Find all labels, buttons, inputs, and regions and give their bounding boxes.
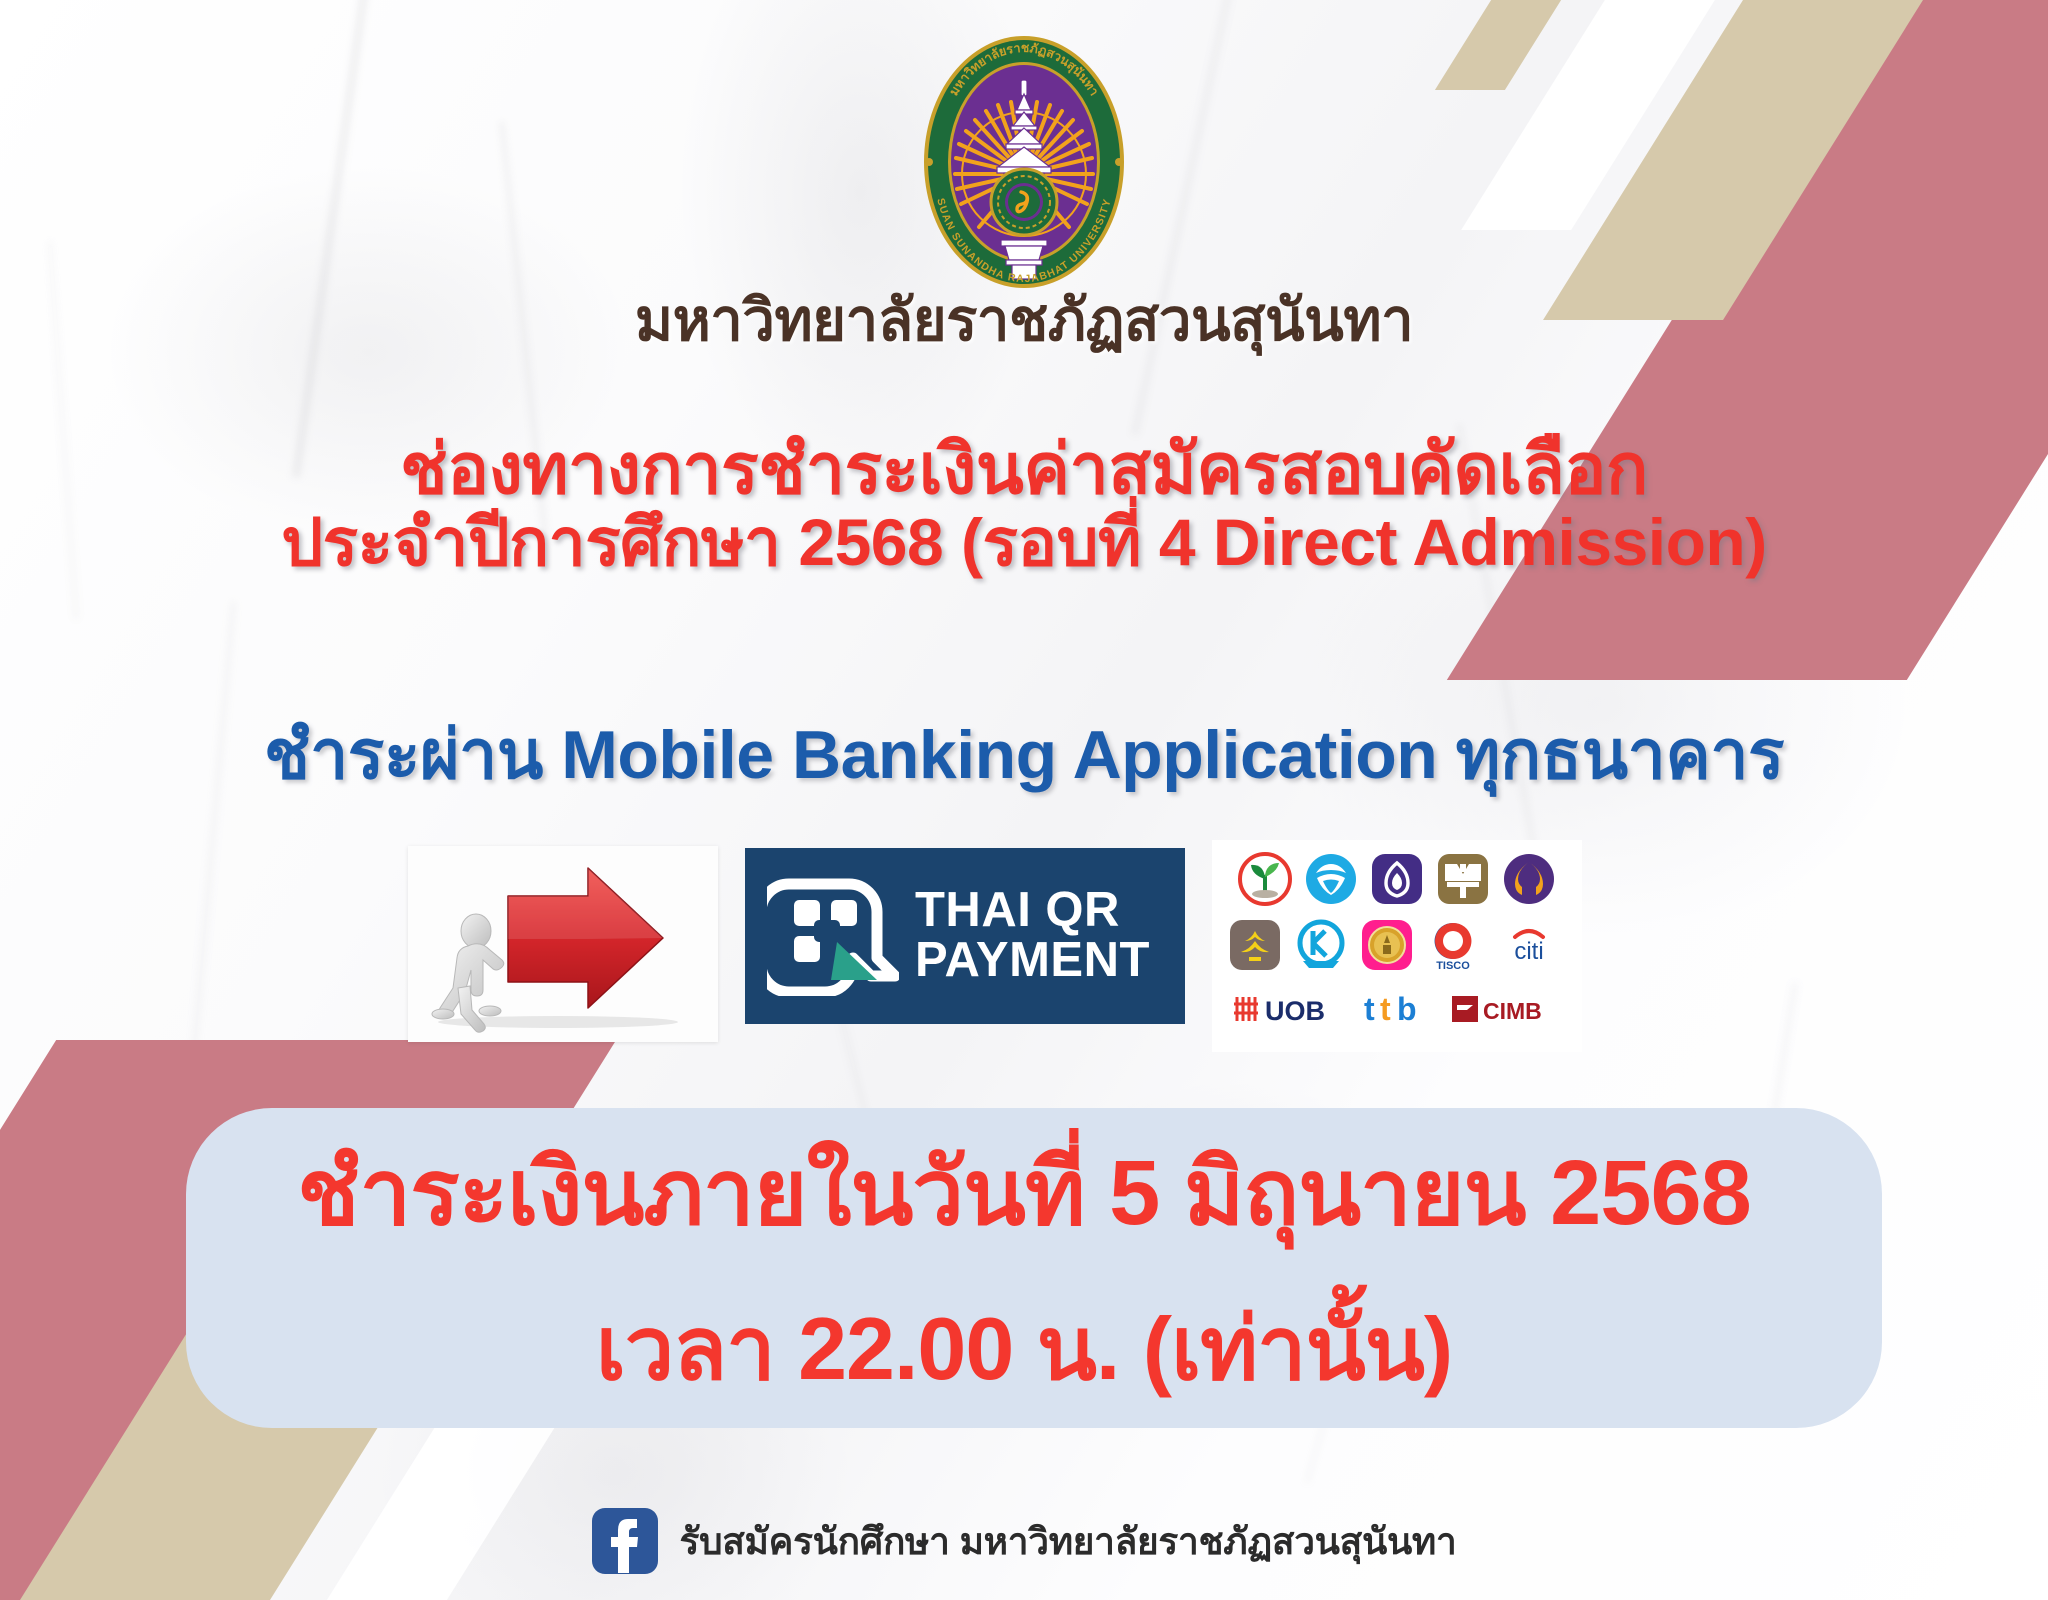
tisco-logo-icon: TISCO xyxy=(1425,917,1481,973)
uob-logo-icon: UOB xyxy=(1233,991,1349,1027)
bank-row-2: TISCO citi xyxy=(1216,912,1578,978)
thai-qr-payment-logo: THAI QR PAYMENT xyxy=(745,848,1185,1024)
bank-row-3: UOB t t b CIMB xyxy=(1216,978,1578,1040)
baac-logo-icon xyxy=(1237,851,1293,907)
poster-content: มหาวิทยาลัยราชภัฏสวนสุนันทา SUAN SUNANDH… xyxy=(0,0,2048,1600)
qr-line-1: THAI QR xyxy=(915,886,1150,936)
university-name: มหาวิทยาลัยราชภัฏสวนสุนันทา xyxy=(0,292,2048,350)
logos-row: THAI QR PAYMENT xyxy=(0,838,2048,1058)
svg-text:CIMB: CIMB xyxy=(1483,998,1542,1024)
headline-line-1: ช่องทางการชำระเงินค่าสมัครสอบคัดเลือก xyxy=(0,432,2048,506)
figure-pushing-red-arrow-image xyxy=(408,846,718,1042)
footer: รับสมัครนักศึกษา มหาวิทยาลัยราชภัฏสวนสุน… xyxy=(0,1508,2048,1574)
payment-channel-subline: ชำระผ่าน Mobile Banking Application ทุกธ… xyxy=(0,700,2048,808)
svg-text:UOB: UOB xyxy=(1265,996,1325,1026)
facebook-icon[interactable] xyxy=(592,1508,658,1574)
headline-line-2: ประจำปีการศึกษา 2568 (รอบที่ 4 Direct Ad… xyxy=(0,508,2048,578)
krungthai-bank-logo-icon xyxy=(1303,851,1359,907)
bangkok-bank-logo-icon xyxy=(1227,917,1283,973)
svg-text:t: t xyxy=(1364,991,1375,1027)
qr-line-2: PAYMENT xyxy=(915,936,1150,986)
citi-logo-icon: citi xyxy=(1491,917,1567,973)
svg-text:TISCO: TISCO xyxy=(1436,960,1470,972)
kasikornbank-k-logo-icon xyxy=(1293,917,1349,973)
deadline-line-2: เวลา 22.00 น. (เท่านั้น) xyxy=(0,1300,2048,1399)
thai-qr-payment-wordmark: THAI QR PAYMENT xyxy=(915,886,1150,986)
headline: ช่องทางการชำระเงินค่าสมัครสอบคัดเลือก ปร… xyxy=(0,432,2048,578)
cimb-logo-icon: CIMB xyxy=(1451,991,1561,1027)
krungsri-logo-icon xyxy=(1359,917,1415,973)
poster-canvas: มหาวิทยาลัยราชภัฏสวนสุนันทา SUAN SUNANDH… xyxy=(0,0,2048,1600)
thai-qr-mark-icon xyxy=(767,876,899,996)
university-crest: มหาวิทยาลัยราชภัฏสวนสุนันทา SUAN SUNANDH… xyxy=(909,24,1139,294)
ttb-logo-icon: t t b xyxy=(1363,991,1437,1027)
scb-logo-icon xyxy=(1369,851,1425,907)
bank-row-1 xyxy=(1216,846,1578,912)
svg-text:t: t xyxy=(1380,991,1391,1027)
kasikorn-seedling-logo-icon xyxy=(1501,851,1557,907)
svg-text:b: b xyxy=(1397,991,1417,1027)
government-savings-bank-logo-icon xyxy=(1435,851,1491,907)
facebook-page-name: รับสมัครนักศึกษา มหาวิทยาลัยราชภัฏสวนสุน… xyxy=(680,1512,1457,1571)
bank-logos-grid: TISCO citi UOB xyxy=(1212,840,1582,1052)
svg-text:citi: citi xyxy=(1514,938,1543,965)
deadline-line-1: ชำระเงินภายในวันที่ 5 มิถุนายน 2568 xyxy=(0,1142,2048,1245)
